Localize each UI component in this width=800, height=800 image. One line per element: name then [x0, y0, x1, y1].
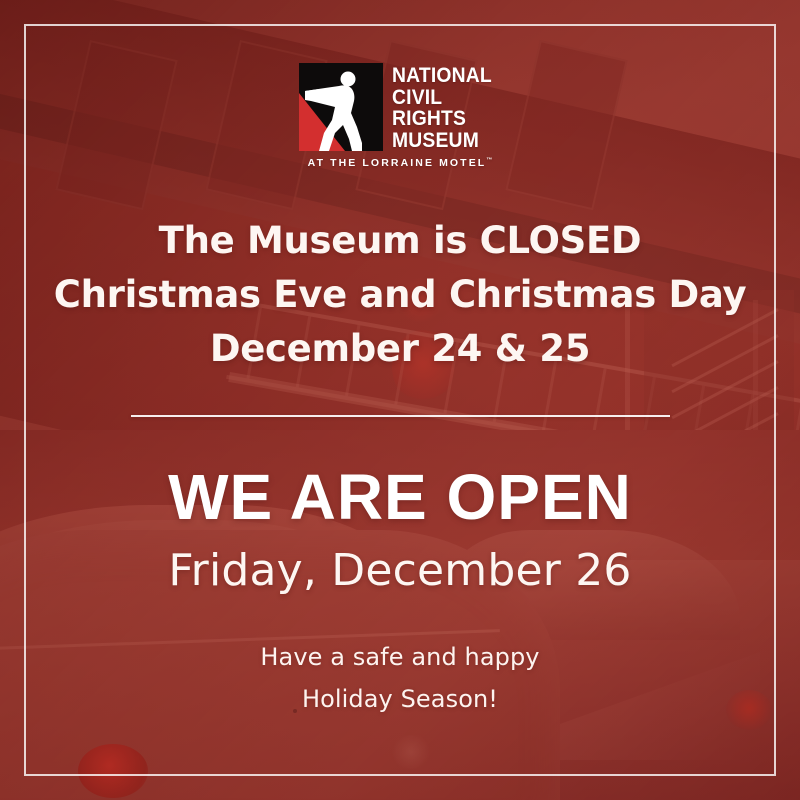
logo-word-museum: MUSEUM — [392, 130, 492, 152]
logo-word-rights: RIGHTS — [392, 108, 492, 130]
headline-line-2: Christmas Eve and Christmas Day — [0, 268, 800, 322]
headline-line-3: December 24 & 25 — [0, 322, 800, 376]
logo-tagline: AT THE LORRAINE MOTEL™ — [308, 157, 493, 169]
closing-line-2: Holiday Season! — [0, 678, 800, 720]
striding-figure-icon — [299, 63, 383, 151]
logo-tagline-text: AT THE LORRAINE MOTEL — [308, 157, 487, 169]
announcement-poster: NATIONAL CIVIL RIGHTS MUSEUM AT THE LORR… — [0, 0, 800, 800]
section-divider — [131, 415, 670, 417]
logo-wordmark: NATIONAL CIVIL RIGHTS MUSEUM — [392, 63, 501, 151]
closing-line-1: Have a safe and happy — [0, 636, 800, 678]
logo-word-national: NATIONAL — [392, 65, 492, 87]
closed-headline: The Museum is CLOSED Christmas Eve and C… — [0, 214, 800, 376]
headline-line-1: The Museum is CLOSED — [0, 214, 800, 268]
open-date: Friday, December 26 — [0, 545, 800, 597]
closing-message: Have a safe and happy Holiday Season! — [0, 636, 800, 720]
museum-logo: NATIONAL CIVIL RIGHTS MUSEUM AT THE LORR… — [0, 63, 800, 169]
logo-word-civil: CIVIL — [392, 87, 492, 109]
open-title: WE ARE OPEN — [0, 462, 800, 532]
trademark-symbol: ™ — [486, 158, 492, 164]
